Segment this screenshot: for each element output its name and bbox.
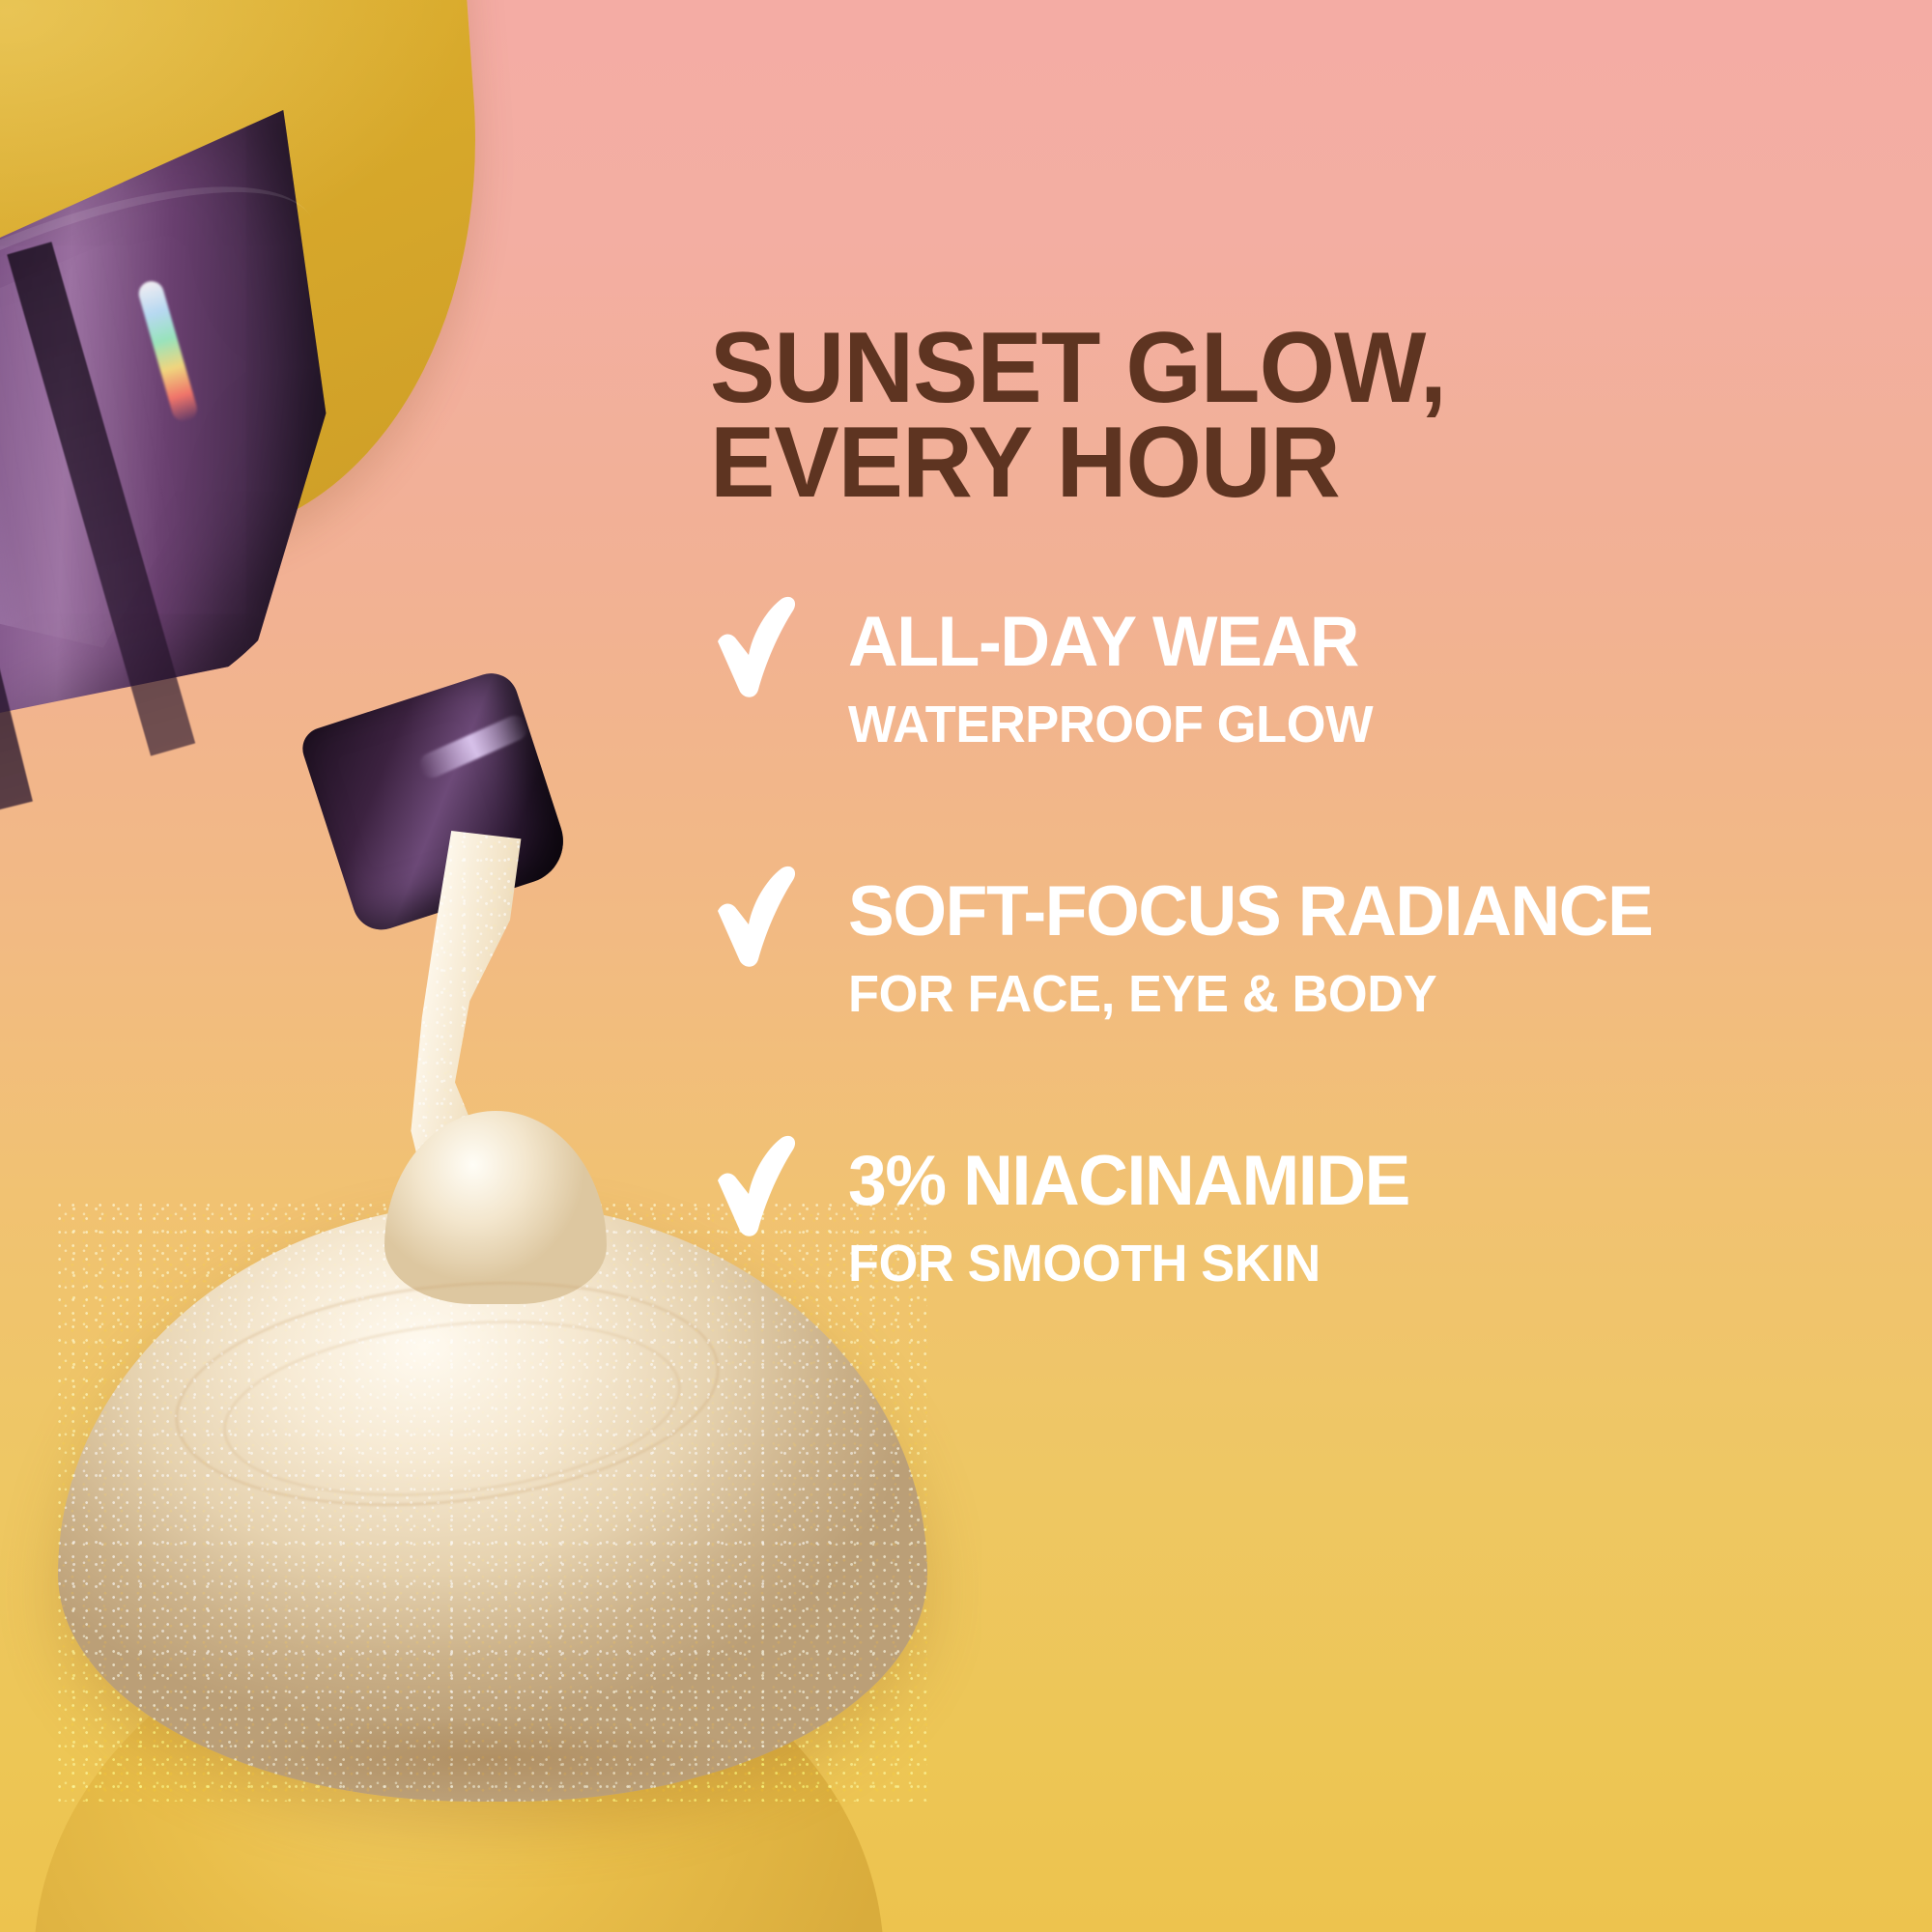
ad-creative: SUNSET GLOW, EVERY HOUR ALL-DAY WEAR WAT… [0, 0, 1932, 1932]
benefit-subtitle: FOR SMOOTH SKIN [848, 1237, 1853, 1290]
benefit-title: SOFT-FOCUS RADIANCE [848, 876, 1863, 947]
check-icon [710, 865, 803, 969]
benefit-item-soft-focus-radiance: SOFT-FOCUS RADIANCE FOR FACE, EYE & BODY [710, 876, 1884, 1020]
headline: SUNSET GLOW, EVERY HOUR [710, 322, 1446, 511]
benefit-subtitle: FOR FACE, EYE & BODY [848, 968, 1853, 1020]
text-column: SUNSET GLOW, EVERY HOUR ALL-DAY WEAR WAT… [710, 0, 1884, 1932]
benefit-subtitle: WATERPROOF GLOW [848, 698, 1853, 751]
check-icon [710, 1134, 803, 1238]
benefit-item-niacinamide: 3% NIACINAMIDE FOR SMOOTH SKIN [710, 1146, 1884, 1290]
benefit-list: ALL-DAY WEAR WATERPROOF GLOW SOFT-FOCUS … [710, 607, 1884, 1290]
benefit-title: 3% NIACINAMIDE [848, 1146, 1863, 1216]
check-icon [710, 595, 803, 699]
benefit-item-all-day-wear: ALL-DAY WEAR WATERPROOF GLOW [710, 607, 1884, 751]
benefit-title: ALL-DAY WEAR [848, 607, 1863, 677]
